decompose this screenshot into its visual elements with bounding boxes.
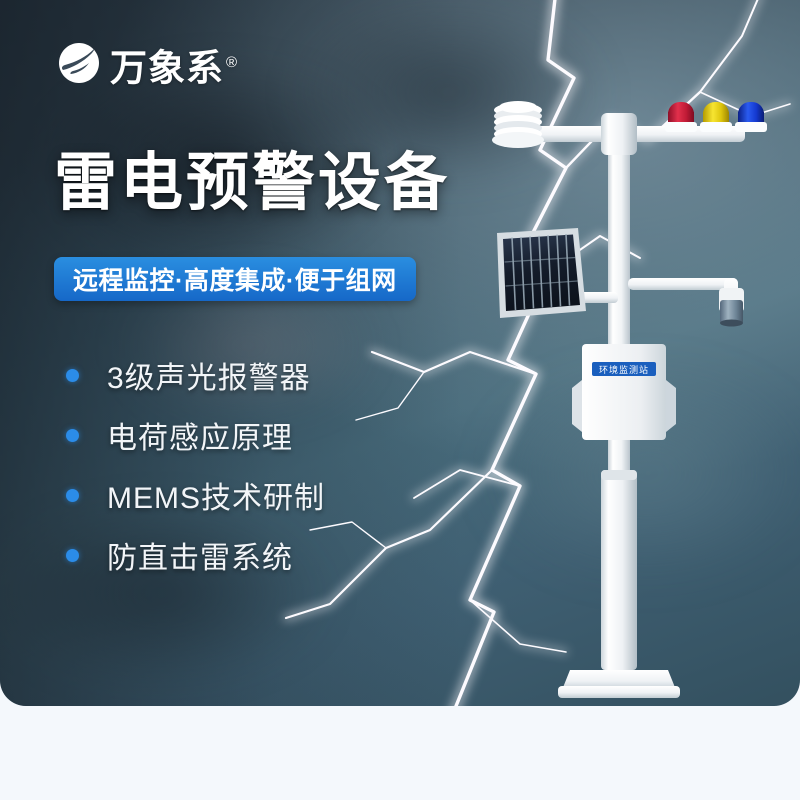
- bullet-dot-icon: [66, 489, 79, 502]
- product-banner: 环境监测站 万象系® 雷电预警设备 远程监控·高度集成·便于组网 3级声光报警器…: [0, 0, 800, 800]
- brand-logo: 万象系®: [56, 40, 238, 91]
- feature-label: 防直击雷系统: [107, 533, 293, 577]
- list-item: MEMS技术研制: [66, 465, 325, 525]
- subtitle-badge: 远程监控·高度集成·便于组网: [54, 257, 416, 301]
- control-box-label: 环境监测站: [599, 364, 649, 375]
- bullet-dot-icon: [66, 549, 79, 562]
- alarm-beacon-red-icon: [665, 102, 697, 132]
- feature-label: MEMS技术研制: [107, 473, 325, 517]
- feature-list: 3级声光报警器 电荷感应原理 MEMS技术研制 防直击雷系统: [66, 345, 325, 585]
- feature-label: 3级声光报警器: [107, 353, 311, 397]
- trust-bar: 品质保障 极速发货: [0, 706, 800, 800]
- solar-panel-icon: [497, 228, 586, 318]
- alarm-beacon-blue-icon: [735, 102, 767, 132]
- registered-mark: ®: [226, 54, 238, 71]
- bullet-dot-icon: [66, 429, 79, 442]
- list-item: 电荷感应原理: [66, 405, 325, 465]
- brand-name: 万象系: [110, 47, 224, 88]
- feature-label: 电荷感应原理: [107, 413, 293, 457]
- bullet-dot-icon: [66, 369, 79, 382]
- list-item: 防直击雷系统: [66, 525, 325, 585]
- page-title: 雷电预警设备: [54, 152, 450, 215]
- radiation-shield-icon: [492, 101, 544, 148]
- list-item: 3级声光报警器: [66, 345, 325, 405]
- alarm-beacon-yellow-icon: [700, 102, 732, 132]
- rain-sensor-icon: [719, 288, 744, 327]
- control-box: 环境监测站: [572, 344, 676, 440]
- swoosh-circle-logo-icon: [56, 40, 102, 86]
